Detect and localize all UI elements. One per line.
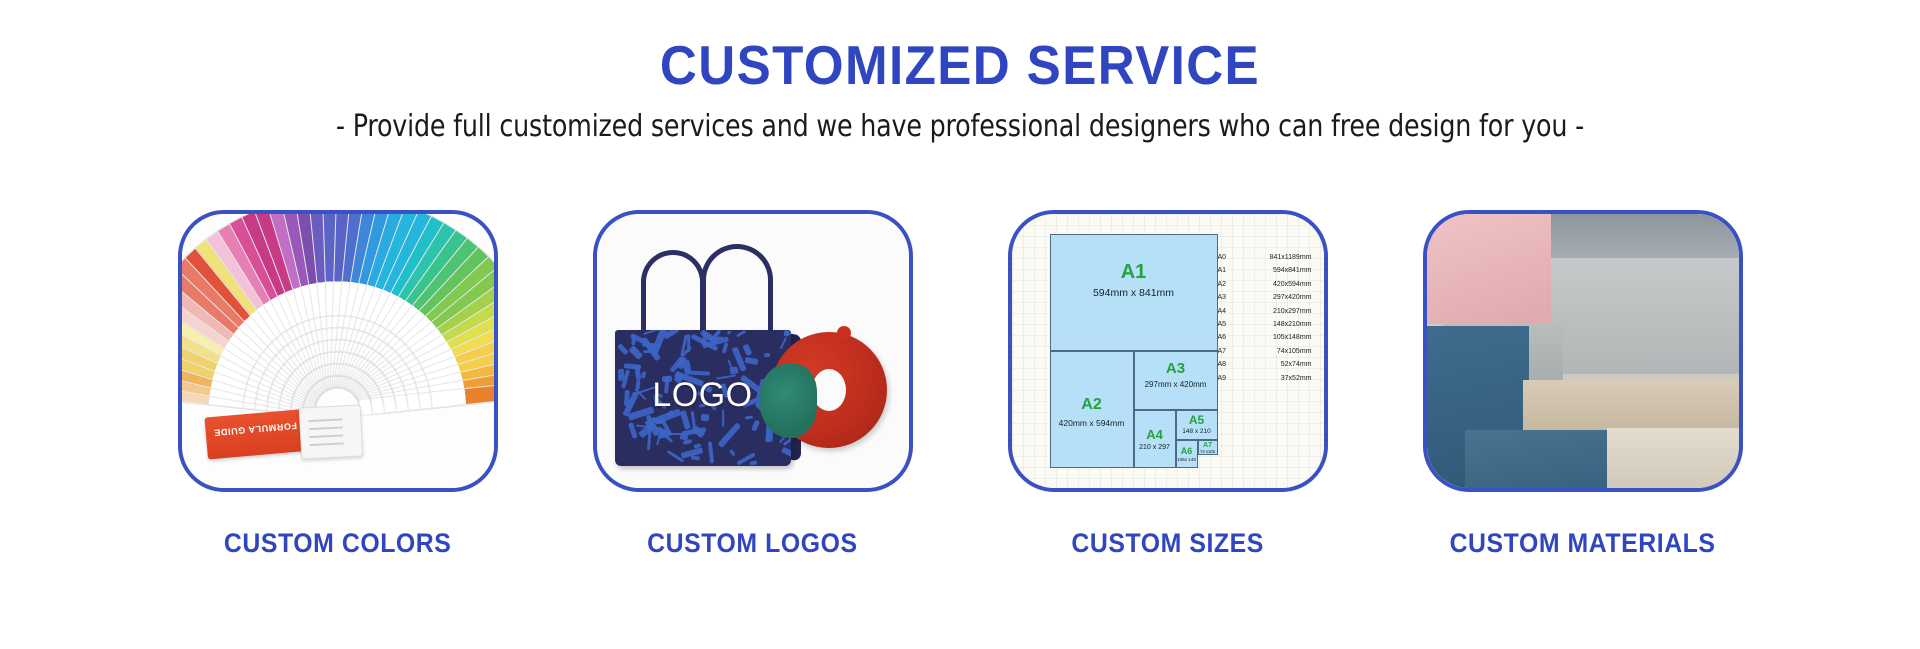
card-frame-custom-colors[interactable]: FORMULA GUIDE	[178, 210, 498, 492]
fabric-swatch-light-grey	[1551, 258, 1739, 374]
bag-print-mark	[617, 343, 629, 355]
paper-size-table-code: A4	[1218, 308, 1234, 315]
fabric-swatches-image	[1427, 214, 1739, 488]
fabric-swatch-pink	[1427, 214, 1551, 324]
bag-handle-right	[701, 244, 773, 336]
paper-size-table-value: 841x1189mm	[1270, 254, 1312, 261]
bag-print-mark	[751, 420, 760, 432]
bag-print-mark	[721, 342, 728, 353]
paper-size-table-row: A3297x420mm	[1218, 294, 1312, 301]
paper-size-table-value: 297x420mm	[1273, 294, 1312, 301]
pantone-tag	[298, 404, 363, 459]
card-frame-custom-sizes[interactable]: A1 594mm x 841mm A2 420mm x 594mm A3 297…	[1008, 210, 1328, 492]
paper-size-table-value: 52x74mm	[1281, 361, 1312, 368]
service-card-custom-materials[interactable]: CUSTOM MATERIALS	[1423, 210, 1743, 559]
paper-size-table-row: A0841x1189mm	[1218, 254, 1312, 261]
paper-size-table-row: A5148x210mm	[1218, 321, 1312, 328]
service-cards-row: FORMULA GUIDE CUSTOM COLORS LOG	[0, 210, 1920, 559]
bag-print-mark	[781, 447, 790, 463]
fabric-swatch-cream	[1607, 428, 1739, 488]
paper-size-table-code: A1	[1218, 267, 1234, 274]
bag-print-mark	[750, 460, 758, 466]
paper-code-a6: A6	[1181, 446, 1193, 456]
bag-print-mark	[631, 336, 635, 345]
paper-sheet-a3: A3 297mm x 420mm	[1134, 351, 1218, 410]
paper-sheet-a1: A1 594mm x 841mm	[1050, 234, 1218, 351]
paper-size-reference-table: A0841x1189mmA1594x841mmA2420x594mmA3297x…	[1218, 254, 1312, 388]
card-frame-custom-materials[interactable]	[1423, 210, 1743, 492]
bag-print-mark	[717, 422, 741, 448]
paper-size-table-code: A8	[1218, 361, 1234, 368]
paper-code-a7: A7	[1203, 442, 1212, 449]
paper-size-table-row: A937x52mm	[1218, 375, 1312, 382]
bag-print-mark	[663, 330, 679, 339]
service-card-custom-sizes[interactable]: A1 594mm x 841mm A2 420mm x 594mm A3 297…	[1008, 210, 1328, 559]
bag-print-mark	[683, 360, 691, 373]
paper-sheet-a4: A4 210 x 297	[1134, 410, 1176, 468]
bag-print-mark	[635, 380, 640, 390]
tote-bag-image: LOGO	[597, 214, 909, 488]
card-label-custom-colors: CUSTOM COLORS	[224, 528, 452, 559]
paper-code-a4: A4	[1146, 427, 1163, 442]
bag-print-mark	[736, 330, 746, 337]
bag-print-mark	[783, 330, 789, 337]
bag-print-mark	[743, 344, 753, 356]
card-label-custom-materials: CUSTOM MATERIALS	[1450, 528, 1716, 559]
paper-size-table-code: A6	[1218, 334, 1234, 341]
paper-size-table-value: 37x52mm	[1281, 375, 1312, 382]
pillow-knob	[837, 326, 851, 340]
paper-code-a5: A5	[1189, 413, 1204, 427]
paper-size-table-value: 420x594mm	[1273, 281, 1312, 288]
fabric-swatch-blue-lower	[1465, 430, 1613, 488]
bag-handle-left	[641, 250, 705, 336]
paper-size-table-row: A2420x594mm	[1218, 281, 1312, 288]
paper-dim-a4: 210 x 297	[1139, 444, 1170, 451]
bag-print-mark	[727, 330, 732, 335]
pantone-fan-image: FORMULA GUIDE	[182, 214, 494, 488]
bag-print-mark	[624, 363, 641, 369]
paper-sheet-a2: A2 420mm x 594mm	[1050, 351, 1134, 468]
bag-print-mark	[764, 353, 770, 357]
paper-dim-a2: 420mm x 594mm	[1059, 418, 1125, 428]
bag-print-mark	[745, 356, 759, 364]
paper-code-a1: A1	[1121, 261, 1147, 284]
bag-print-mark	[779, 337, 787, 350]
paper-code-a2: A2	[1081, 396, 1101, 414]
bag-print-mark	[618, 369, 625, 381]
paper-code-a3: A3	[1166, 360, 1185, 377]
paper-size-table-row: A6105x148mm	[1218, 334, 1312, 341]
paper-size-table-value: 148x210mm	[1273, 321, 1312, 328]
service-card-custom-colors[interactable]: FORMULA GUIDE CUSTOM COLORS	[178, 210, 498, 559]
paper-size-table-code: A9	[1218, 375, 1234, 382]
paper-dim-a6: 105x 148	[1177, 457, 1196, 462]
formula-guide-label: FORMULA GUIDE	[213, 421, 297, 438]
paper-dim-a7: 74 x105	[1200, 449, 1215, 454]
paper-size-table-code: A2	[1218, 281, 1234, 288]
bag-print-mark	[691, 455, 700, 460]
paper-size-table-value: 74x105mm	[1277, 348, 1312, 355]
bag-print-mark	[708, 441, 714, 463]
neck-pillow-teal	[759, 364, 817, 438]
card-label-custom-sizes: CUSTOM SIZES	[1071, 528, 1263, 559]
paper-dim-a1: 594mm x 841mm	[1093, 287, 1174, 299]
paper-size-table-code: A3	[1218, 294, 1234, 301]
paper-size-table-row: A4210x297mm	[1218, 308, 1312, 315]
bag-logo-text: LOGO	[652, 376, 752, 415]
banner-header: CUSTOMIZED SERVICE - Provide full custom…	[0, 0, 1920, 144]
bag-print-mark	[640, 371, 646, 379]
fabric-swatch-beige	[1523, 380, 1739, 432]
service-card-custom-logos[interactable]: LOGO CUSTOM LOGOS	[593, 210, 913, 559]
paper-size-table-code: A7	[1218, 348, 1234, 355]
paper-size-table-code: A5	[1218, 321, 1234, 328]
paper-size-table-code: A0	[1218, 254, 1234, 261]
paper-sheet-a6: A6 105x 148	[1176, 440, 1198, 468]
paper-size-table-value: 594x841mm	[1273, 267, 1312, 274]
page-subtitle: - Provide full customized services and w…	[58, 109, 1863, 144]
paper-size-diagram: A1 594mm x 841mm A2 420mm x 594mm A3 297…	[1012, 214, 1324, 488]
paper-dim-a5: 148 x 210	[1182, 428, 1211, 435]
paper-size-table-value: 210x297mm	[1273, 308, 1312, 315]
paper-sheet-a5: A5 148 x 210	[1176, 410, 1218, 440]
fabric-swatch-grey-top	[1531, 214, 1739, 258]
paper-size-table-row: A852x74mm	[1218, 361, 1312, 368]
bag-print-mark	[729, 449, 735, 456]
bag-print-mark	[745, 416, 753, 420]
paper-dim-a3: 297mm x 420mm	[1145, 380, 1207, 389]
card-frame-custom-logos[interactable]: LOGO	[593, 210, 913, 492]
paper-size-table-row: A774x105mm	[1218, 348, 1312, 355]
card-label-custom-logos: CUSTOM LOGOS	[647, 528, 857, 559]
paper-size-table-value: 105x148mm	[1273, 334, 1312, 341]
paper-sheet-a7: A7 74 x105	[1198, 440, 1218, 455]
page-title: CUSTOMIZED SERVICE	[67, 38, 1853, 93]
paper-size-table-row: A1594x841mm	[1218, 267, 1312, 274]
customized-service-banner: CUSTOMIZED SERVICE - Provide full custom…	[0, 0, 1920, 649]
